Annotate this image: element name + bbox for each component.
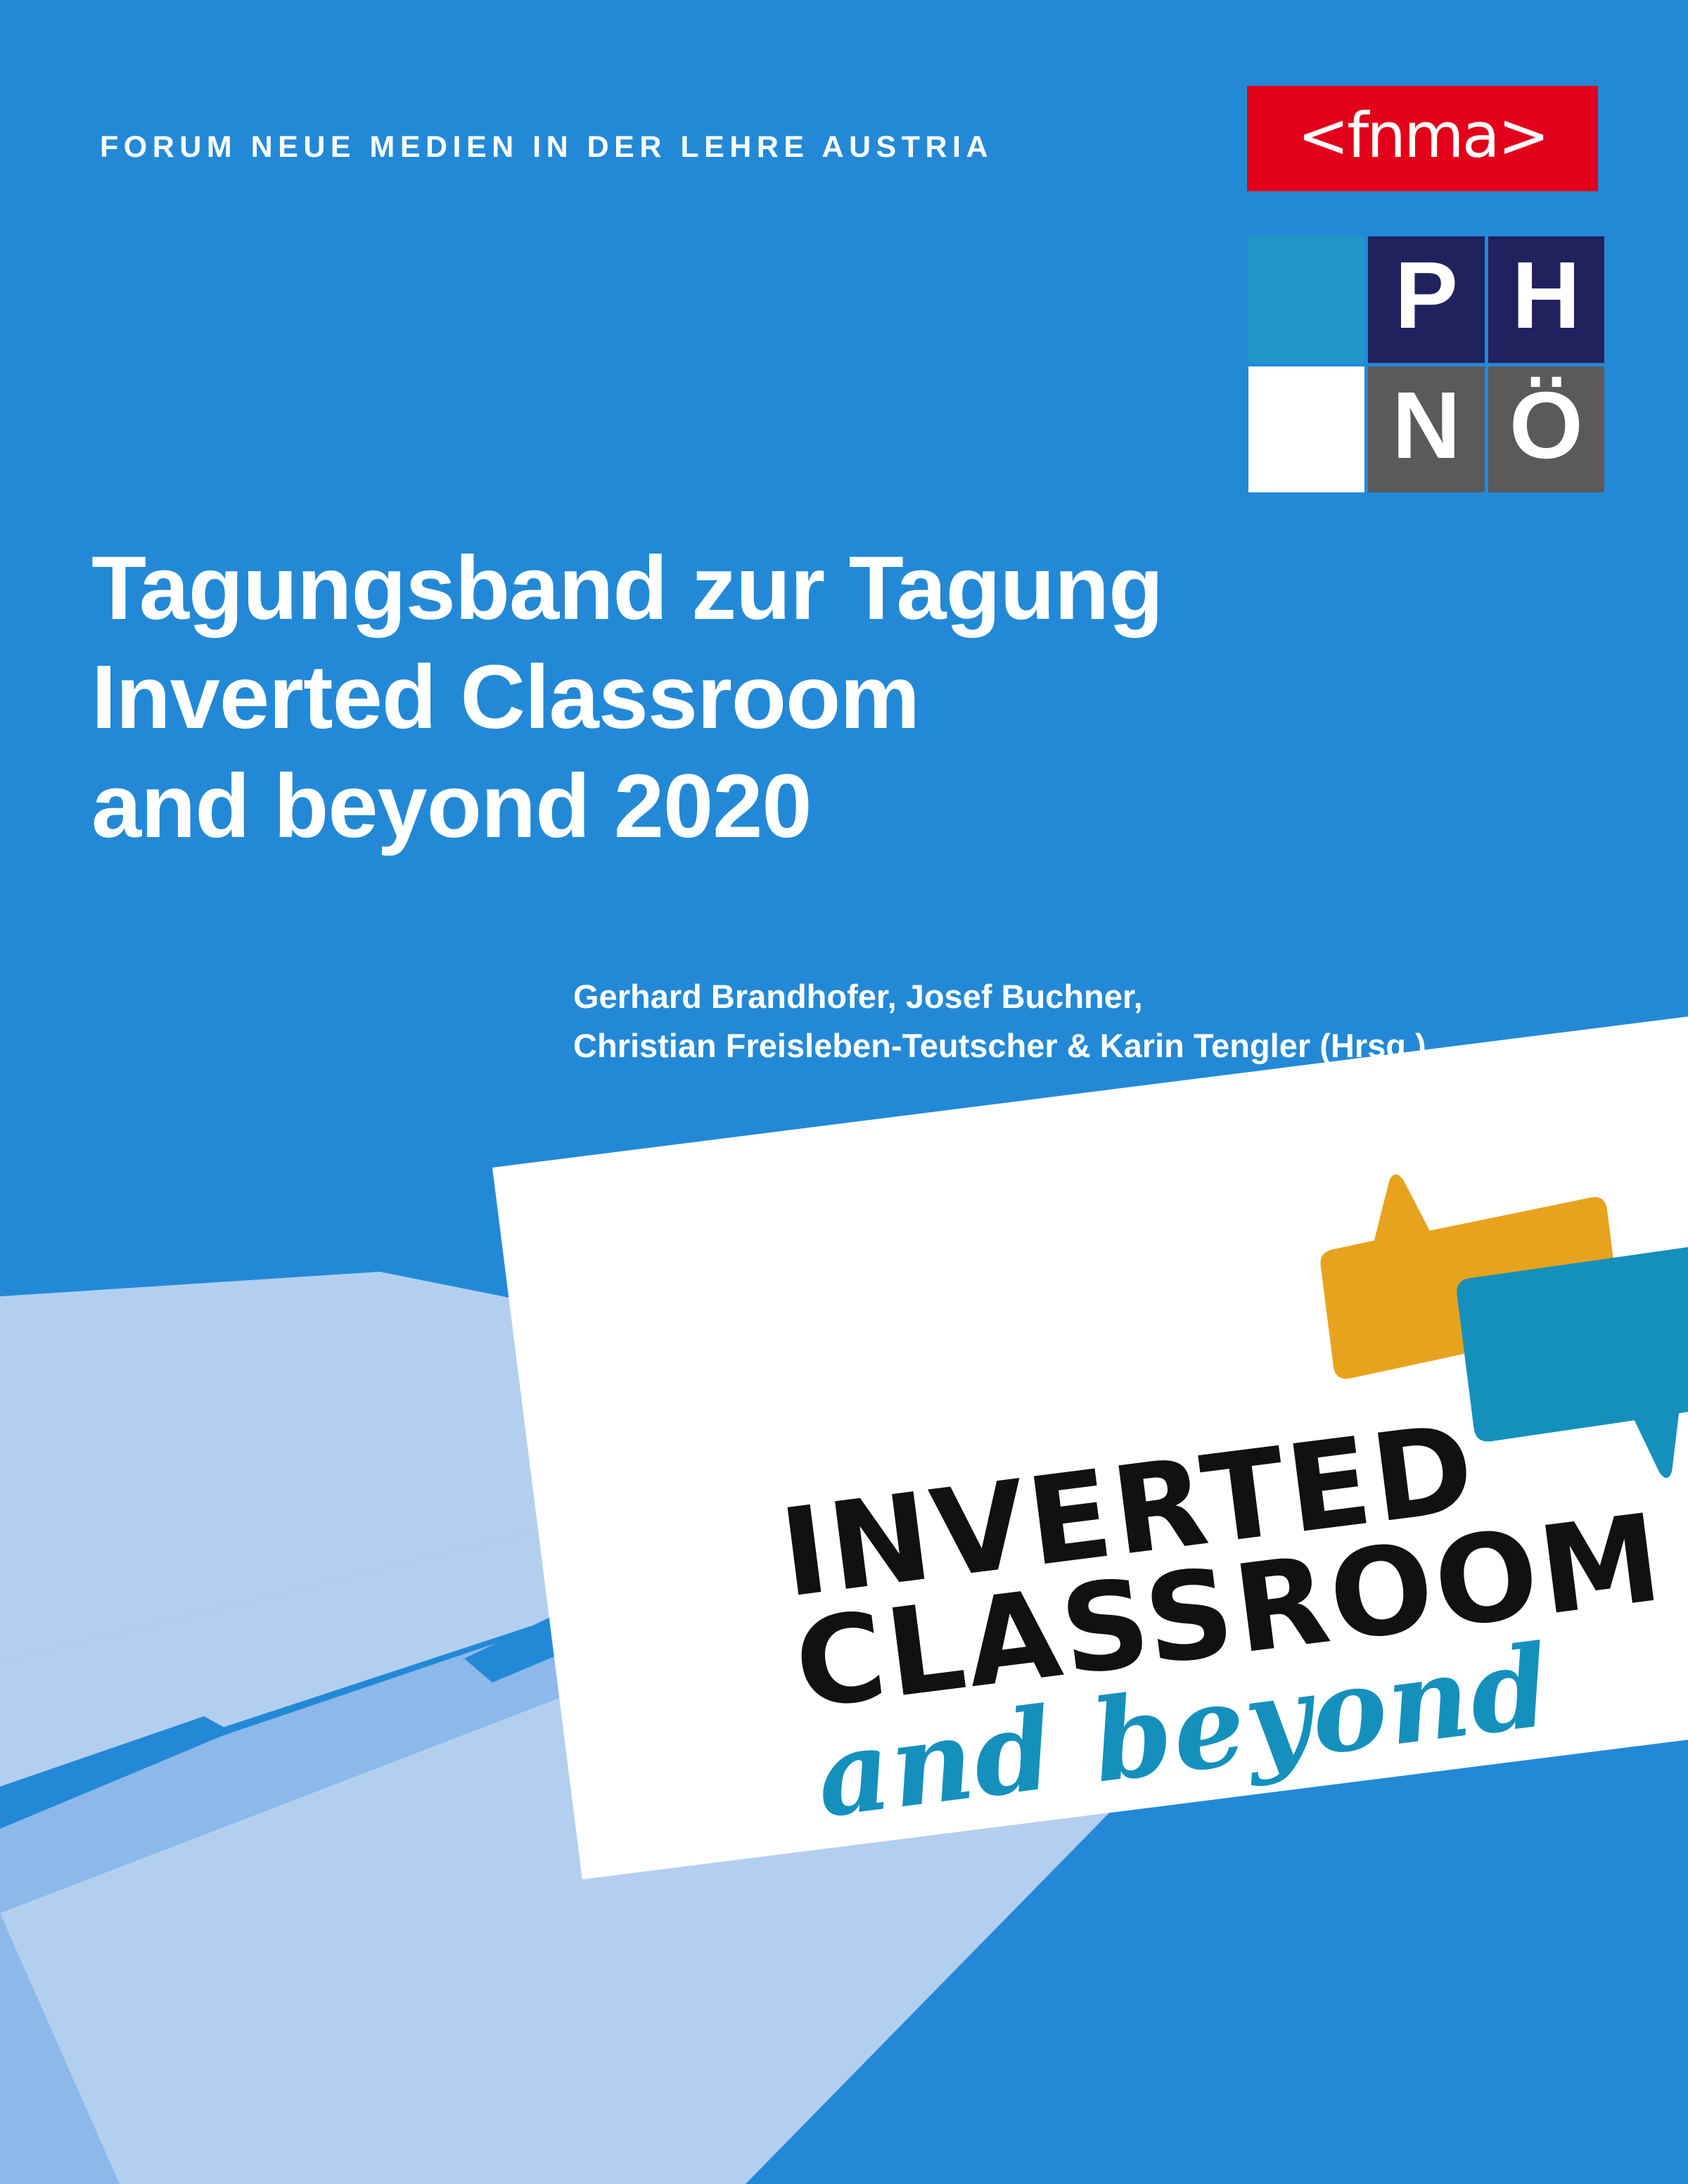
organization-line: FORUM NEUE MEDIEN IN DER LEHRE AUSTRIA [100,130,993,165]
ph-noe-letter-h: H [1512,248,1581,343]
ph-noe-tile-white [1248,366,1364,493]
ph-noe-tile-oe: Ö [1488,366,1604,493]
title-line-2: Inverted Classroom [91,644,1287,753]
fnma-logo: <fnma> [1247,86,1598,191]
ph-noe-tile-n: N [1368,366,1484,493]
ph-noe-tile-p: P [1368,236,1484,363]
editors-line-2: Christian Freisleben-Teutscher & Karin T… [573,1021,1426,1071]
ph-noe-tile-lightblue [1248,236,1364,363]
ph-noe-letter-n: N [1392,378,1461,473]
page-title: Tagungsband zur Tagung Inverted Classroo… [91,535,1287,862]
editors-block: Gerhard Brandhofer, Josef Buchner, Chris… [573,972,1426,1070]
ph-noe-tile-h: H [1488,236,1604,363]
title-line-1: Tagungsband zur Tagung [91,535,1287,644]
title-line-3: and beyond 2020 [91,753,1287,862]
fnma-wordmark: <fnma> [1298,105,1548,167]
ph-noe-letter-oe: Ö [1509,378,1583,473]
ph-noe-letter-p: P [1395,248,1458,343]
book-cover: FORUM NEUE MEDIEN IN DER LEHRE AUSTRIA <… [0,0,1688,2184]
ph-noe-logo: P H N Ö [1248,236,1604,492]
speech-bubble-blue-icon [1448,1231,1688,1502]
editors-line-1: Gerhard Brandhofer, Josef Buchner, [573,972,1426,1021]
